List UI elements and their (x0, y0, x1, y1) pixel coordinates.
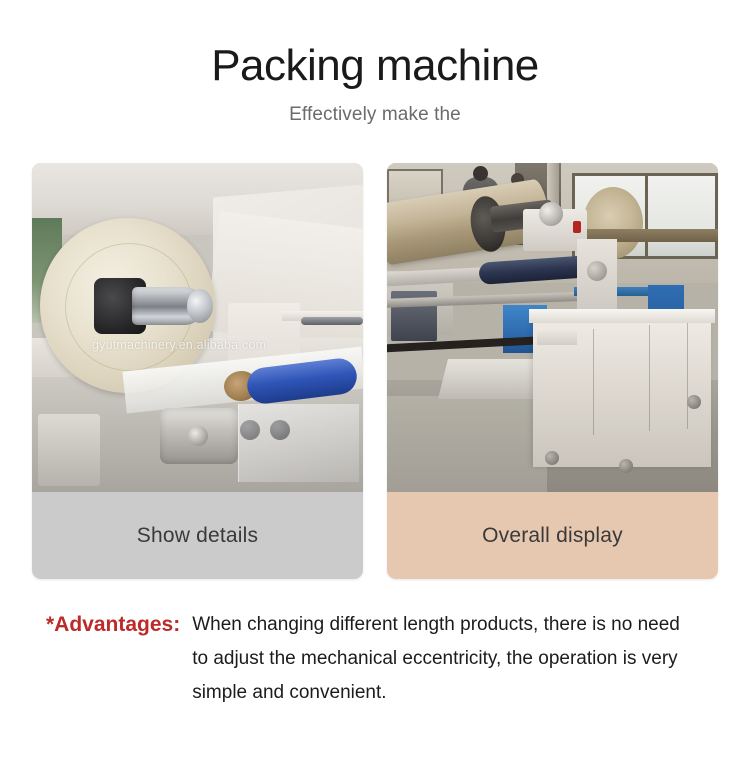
guide-rod (301, 317, 363, 325)
clear-film-sheet (238, 404, 359, 482)
cabinet-door-seam (593, 329, 594, 435)
page-title: Packing machine (0, 44, 750, 88)
caster-wheel (619, 459, 633, 473)
page-header: Packing machine Effectively make the (0, 0, 750, 126)
product-photo-overall-display: gyutmachinery.en.alibaba.com (387, 163, 718, 492)
card-caption-show-details: Show details (32, 492, 363, 579)
advantages-label: *Advantages: (46, 608, 192, 642)
red-indicator (573, 221, 581, 233)
page-subtitle: Effectively make the (0, 88, 750, 126)
chrome-shaft (132, 287, 204, 325)
image-card-overall-display[interactable]: gyutmachinery.en.alibaba.com Overall dis… (387, 163, 718, 579)
workshop-floor-left (387, 396, 547, 492)
image-card-show-details[interactable]: gyutmachinery.en.alibaba.com Show detail… (32, 163, 363, 579)
feed-roller (160, 408, 238, 464)
machine-stand (38, 414, 100, 486)
caster-wheel (545, 451, 559, 465)
cabinet-door-seam (649, 325, 650, 431)
cabinet-door-seam (687, 323, 688, 429)
advantages-section: *Advantages: When changing different len… (46, 608, 718, 709)
card-caption-overall-display: Overall display (387, 492, 718, 579)
image-card-gallery: gyutmachinery.en.alibaba.com Show detail… (32, 163, 718, 579)
control-panel (537, 331, 577, 345)
shaft-knob (539, 202, 563, 226)
product-photo-show-details: gyutmachinery.en.alibaba.com (32, 163, 363, 492)
caster-wheel (687, 395, 701, 409)
advantages-text: When changing different length products,… (192, 608, 696, 709)
cabinet-top (529, 309, 715, 323)
